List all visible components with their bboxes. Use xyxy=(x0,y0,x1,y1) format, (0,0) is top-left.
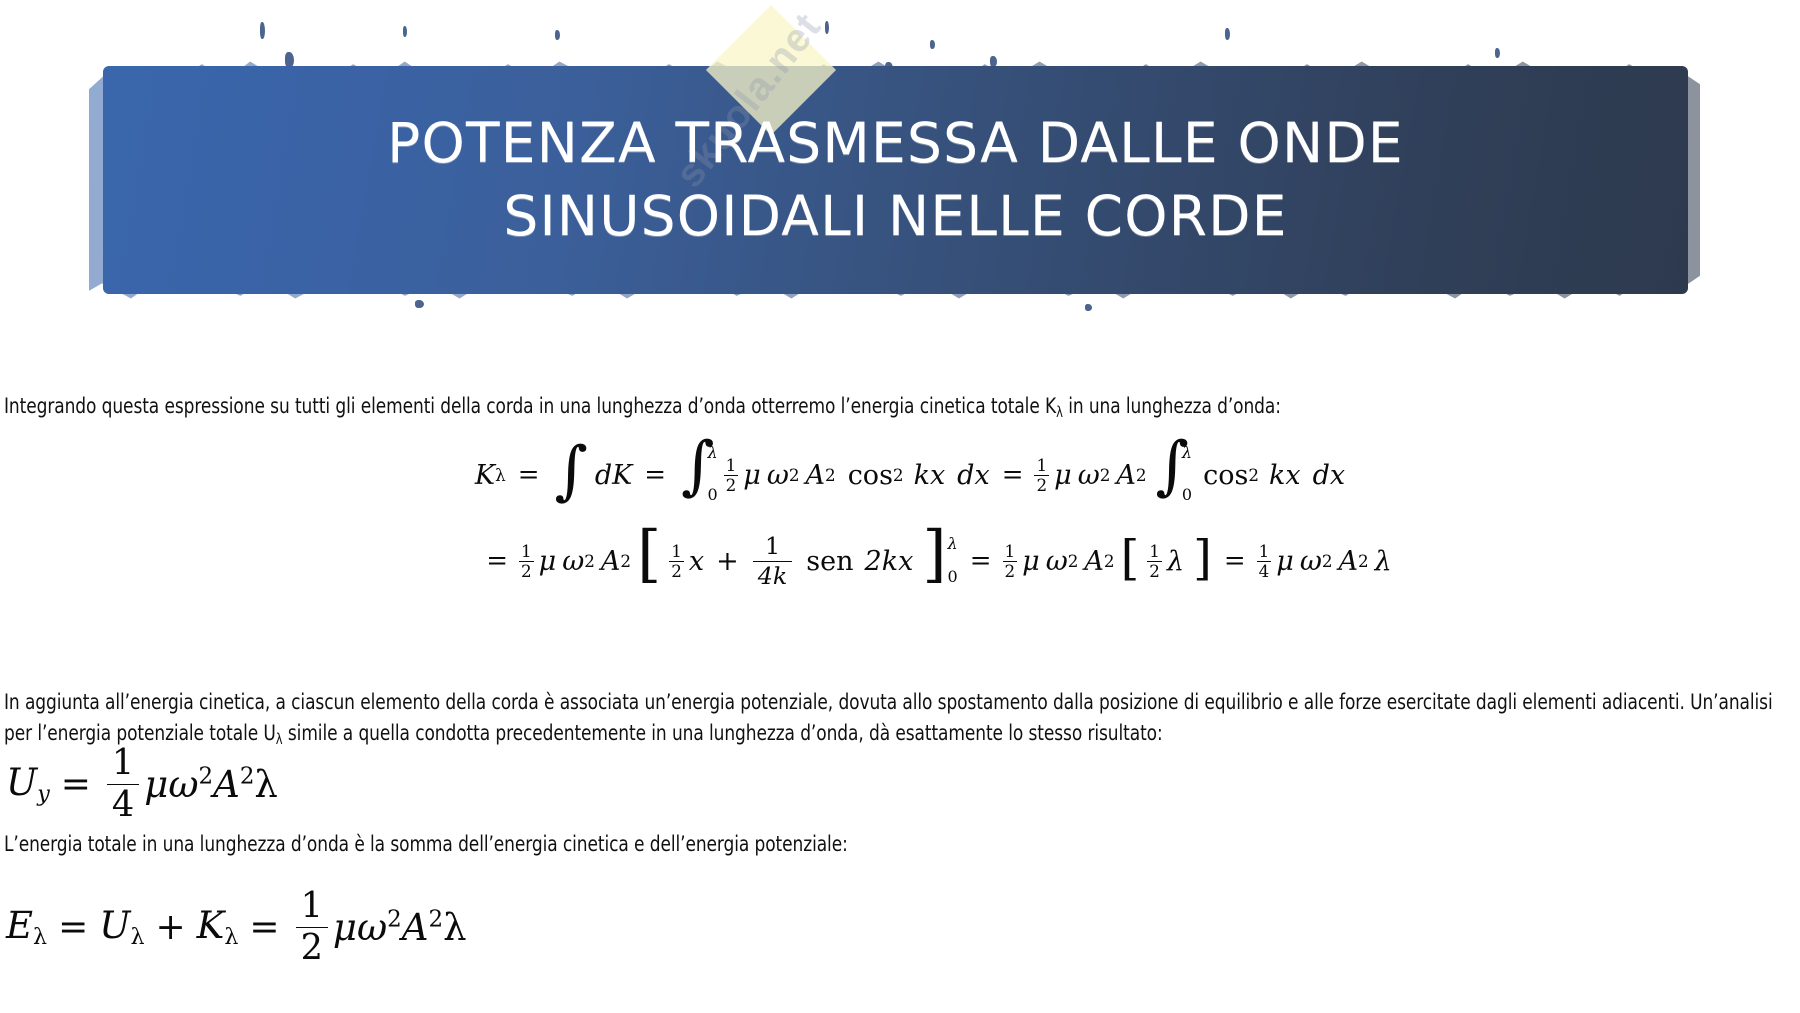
eq-uy-lhs: Uy xyxy=(6,761,50,807)
eq-etot-lambda: λ xyxy=(443,906,466,949)
eq-etot-lhs: Eλ xyxy=(6,904,47,950)
banner-brushstroke xyxy=(103,66,1688,294)
eq2-var-x: x xyxy=(689,546,704,577)
eq2-amplitude-squared-2: A2 xyxy=(1084,546,1114,577)
eq2-one-over-four-k: 1 4k xyxy=(753,534,793,589)
eq1-lhs: Kλ xyxy=(475,460,506,491)
eq1-mu: μ xyxy=(743,460,761,491)
eq-etot-omega-squared: ω2 xyxy=(357,906,402,949)
eq2-plus: + xyxy=(716,546,739,577)
eq1-differential-2: dx xyxy=(1313,460,1346,491)
eq2-equals-0: = xyxy=(486,546,508,576)
fraction-denominator: 2 xyxy=(1147,561,1162,580)
eq-uy-fraction: 1 4 xyxy=(107,745,139,824)
eq1-mu-2: μ xyxy=(1054,460,1072,491)
fraction-denominator: 2 xyxy=(519,561,534,580)
fraction-denominator: 4 xyxy=(1257,561,1272,580)
integral-icon: ∫ xyxy=(554,448,587,494)
eq-uy-amplitude-squared: A2 xyxy=(213,763,254,806)
fraction-numerator: 1 xyxy=(1257,543,1272,561)
eq2-bracket-contents: 1 2 x + 1 4k sen 2kx xyxy=(661,534,922,589)
paint-fleck xyxy=(403,26,407,37)
fraction-numerator: 1 xyxy=(724,457,739,475)
equation-kinetic-energy: Kλ = ∫ dK = ∫ λ 0 1 2 μ ω2 A2 cos2 kx xyxy=(400,432,1420,604)
fraction-numerator: 1 xyxy=(1034,457,1049,475)
bracket-open: [ xyxy=(637,535,661,590)
eq2-half-2: 1 2 xyxy=(1147,543,1162,579)
eq2-omega-squared-3: ω2 xyxy=(1300,546,1333,577)
eq-etot-fraction: 1 2 xyxy=(296,888,328,967)
eq1-equals-1: = xyxy=(518,460,540,490)
eq2-bracket-group-1: [ 1 2 x + 1 4k sen 2kx ] xyxy=(637,534,958,589)
paint-fleck xyxy=(555,30,560,40)
eq-etot-mu: μ xyxy=(333,906,357,949)
fraction-numerator: 1 xyxy=(296,888,328,927)
bracket-close: ] xyxy=(922,535,946,590)
slide-root: skuola.net POTENZA TRASMESSA DALLE ONDE … xyxy=(0,0,1800,1013)
eq1-argument: kx xyxy=(914,460,946,491)
bracket-open: [ xyxy=(1121,544,1140,580)
eq2-amplitude-squared-3: A2 xyxy=(1339,546,1369,577)
eq2-omega-squared: ω2 xyxy=(562,546,595,577)
equation-total-energy: Eλ = Uλ + Kλ = 1 2 μ ω2 A2 λ xyxy=(6,888,467,967)
eq2-sen-argument: 2kx xyxy=(865,546,914,577)
eq2-equals-2: = xyxy=(1224,546,1246,576)
eq-etot-k-term: Kλ xyxy=(197,904,239,950)
eq2-mu: μ xyxy=(539,546,557,577)
paragraph-intro-part-a: Integrando questa espressione su tutti g… xyxy=(4,394,1056,419)
eq1-cos-squared-2: cos2 xyxy=(1203,460,1259,491)
eq1-coefficient-half: 1 2 xyxy=(724,457,739,493)
eq1-omega-squared-2: ω2 xyxy=(1078,460,1111,491)
title-banner: skuola.net POTENZA TRASMESSA DALLE ONDE … xyxy=(85,18,1715,318)
integral-lower-limit: 0 xyxy=(707,485,717,504)
bracket-lower-limit: 0 xyxy=(948,567,958,586)
eq1-coefficient-half-2: 1 2 xyxy=(1034,457,1049,493)
eq-uy-mu: μ xyxy=(144,763,168,806)
eq2-bracket-group-2: [ 1 2 λ ] xyxy=(1121,543,1212,579)
paint-fleck xyxy=(1495,48,1500,58)
eq2-lambda-final: λ xyxy=(1375,546,1392,577)
eq-etot-amplitude-squared: A2 xyxy=(402,906,443,949)
paint-fleck xyxy=(1085,304,1092,311)
eq1-integral-1: ∫ xyxy=(554,452,587,498)
fraction-denominator: 4k xyxy=(753,561,793,589)
eq2-bracket-limits: λ 0 xyxy=(948,534,958,586)
eq1-equals-3: = xyxy=(1002,460,1024,490)
eq1-argument-2: kx xyxy=(1269,460,1301,491)
eq2-amplitude-squared: A2 xyxy=(601,546,631,577)
fraction-numerator: 1 xyxy=(1147,543,1162,561)
eq-uy-equals: = xyxy=(61,764,91,805)
eq1-integral-2-limits: λ 0 xyxy=(707,443,717,499)
bracket-close: ] xyxy=(1193,544,1212,580)
paragraph-potential-energy: In aggiunta all’energia cinetica, a cias… xyxy=(4,688,1799,750)
fraction-numerator: 1 xyxy=(107,745,139,784)
integral-lower-limit: 0 xyxy=(1182,485,1192,504)
eq2-equals-1: = xyxy=(970,546,992,576)
eq2-coefficient-quarter: 1 4 xyxy=(1257,543,1272,579)
eq-etot-equals-1: = xyxy=(58,907,88,948)
equation-potential-energy: Uy = 1 4 μ ω2 A2 λ xyxy=(6,745,278,824)
fraction-numerator: 1 xyxy=(1003,543,1018,561)
paint-fleck xyxy=(260,22,265,39)
fraction-denominator: 2 xyxy=(1003,561,1018,580)
paint-fleck xyxy=(1225,28,1230,40)
eq-etot-plus: + xyxy=(156,907,186,948)
eq2-omega-squared-2: ω2 xyxy=(1046,546,1079,577)
eq2-sen: sen xyxy=(806,546,853,577)
fraction-numerator: 1 xyxy=(519,543,534,561)
eq1-omega-squared: ω2 xyxy=(767,460,800,491)
integral-upper-limit: λ xyxy=(1182,443,1192,462)
eq1-cos-squared: cos2 xyxy=(848,460,904,491)
paragraph-intro-part-b: in una lunghezza d’onda: xyxy=(1063,394,1281,419)
integral-upper-limit: λ xyxy=(707,443,717,462)
fraction-denominator: 2 xyxy=(669,561,684,580)
eq2-coefficient-half: 1 2 xyxy=(519,543,534,579)
bracket-upper-limit: λ xyxy=(948,534,958,553)
fraction-denominator: 2 xyxy=(1034,475,1049,494)
eq2-mu-3: μ xyxy=(1276,546,1294,577)
eq-uy-lambda: λ xyxy=(254,763,277,806)
eq1-equals-2: = xyxy=(644,460,666,490)
fraction-denominator: 2 xyxy=(296,927,328,967)
eq1-amplitude-squared-2: A2 xyxy=(1116,460,1146,491)
eq2-mu-2: μ xyxy=(1022,546,1040,577)
paint-fleck xyxy=(415,300,424,308)
paragraph-intro: Integrando questa espressione su tutti g… xyxy=(4,392,1790,424)
eq-uy-omega-squared: ω2 xyxy=(168,763,213,806)
fraction-denominator: 4 xyxy=(107,784,139,824)
eq2-half: 1 2 xyxy=(669,543,684,579)
eq-etot-equals-2: = xyxy=(249,907,279,948)
paint-fleck xyxy=(930,40,935,49)
fraction-numerator: 1 xyxy=(669,543,684,561)
eq-etot-u-term: Uλ xyxy=(99,904,144,950)
eq1-differential: dx xyxy=(957,460,990,491)
eq1-integral-2: ∫ λ 0 xyxy=(681,447,718,503)
eq1-integrand-1: dK xyxy=(595,460,632,491)
equation-kinetic-line-2: = 1 2 μ ω2 A2 [ 1 2 x + 1 xyxy=(400,518,1420,604)
eq1-integral-3-limits: λ 0 xyxy=(1182,443,1192,499)
fraction-denominator: 2 xyxy=(724,475,739,494)
eq2-lambda: λ xyxy=(1167,546,1184,577)
paragraph-total-energy: L’energia totale in una lunghezza d’onda… xyxy=(4,830,1790,861)
fraction-numerator: 1 xyxy=(760,534,785,561)
paragraph-potential-part-b: simile a quella condotta precedentemente… xyxy=(283,721,1163,746)
eq2-coefficient-half-2: 1 2 xyxy=(1003,543,1018,579)
eq1-integral-3: ∫ λ 0 xyxy=(1156,447,1193,503)
eq2-bracket-contents-2: 1 2 λ xyxy=(1139,543,1193,579)
eq1-amplitude-squared: A2 xyxy=(806,460,836,491)
equation-kinetic-line-1: Kλ = ∫ dK = ∫ λ 0 1 2 μ ω2 A2 cos2 kx xyxy=(400,432,1420,518)
